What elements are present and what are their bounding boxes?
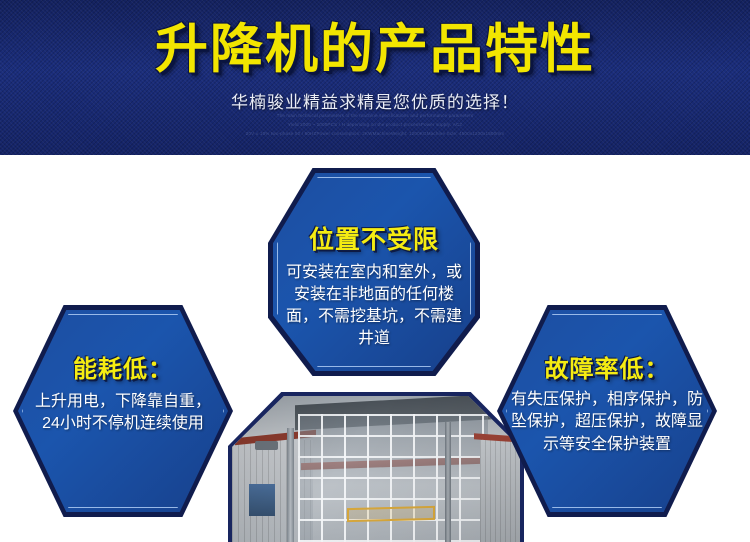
page-title: 升降机的产品特性 (0, 22, 750, 78)
feature-card-failure-body: 有失压保护，相序保护，防坠保护，超压保护，故障显示等安全保护装置 (497, 389, 717, 456)
feature-card-failure-content: 故障率低： 有失压保护，相序保护，防坠保护，超压保护，故障显示等安全保护装置 (497, 349, 717, 456)
banner-fineprint-line-1: The main technical parameters of the mac… (0, 112, 750, 121)
feature-card-energy-body: 上升用电，下降靠自重， 24小时不停机连续使用 (13, 391, 233, 436)
product-photo-frame (228, 392, 524, 542)
feature-card-position-body: 可安装在室内和室外，或安装在非地面的任何楼面，不需挖基坑，不需建井道 (268, 262, 480, 350)
banner-subtitle: 华楠骏业精益求精是您优质的选择！ (0, 88, 750, 113)
feature-card-energy-content: 能耗低： 上升用电，下降靠自重， 24小时不停机连续使用 (13, 349, 233, 436)
feature-card-position-title: 位置不受限 (268, 220, 480, 256)
feature-card-position-content: 位置不受限 可安装在室内和室外，或安装在非地面的任何楼面，不需挖基坑，不需建井道 (268, 220, 480, 350)
feature-card-position[interactable]: 位置不受限 可安装在室内和室外，或安装在非地面的任何楼面，不需挖基坑，不需建井道 (268, 168, 480, 376)
product-photo (232, 396, 520, 542)
photo-shading-overlay (232, 396, 520, 542)
header-banner: 升降机的产品特性 华楠骏业精益求精是您优质的选择！ The main techn… (0, 0, 750, 155)
feature-card-failure-title: 故障率低： (497, 349, 717, 384)
banner-fineprint: The main technical parameters of the mac… (0, 112, 750, 139)
feature-card-energy[interactable]: 能耗低： 上升用电，下降靠自重， 24小时不停机连续使用 (13, 305, 233, 517)
banner-fineprint-line-3: 20V ± 10% two-phase 50 / 60HZPower consu… (0, 130, 750, 139)
feature-card-energy-title: 能耗低： (13, 349, 233, 384)
feature-card-failure[interactable]: 故障率低： 有失压保护，相序保护，防坠保护，超压保护，故障显示等安全保护装置 (497, 305, 717, 517)
banner-fineprint-line-2: Yield 2000 ~ 2000PCS / H depending on th… (0, 121, 750, 130)
product-feature-banner-page: 升降机的产品特性 华楠骏业精益求精是您优质的选择！ The main techn… (0, 0, 750, 542)
